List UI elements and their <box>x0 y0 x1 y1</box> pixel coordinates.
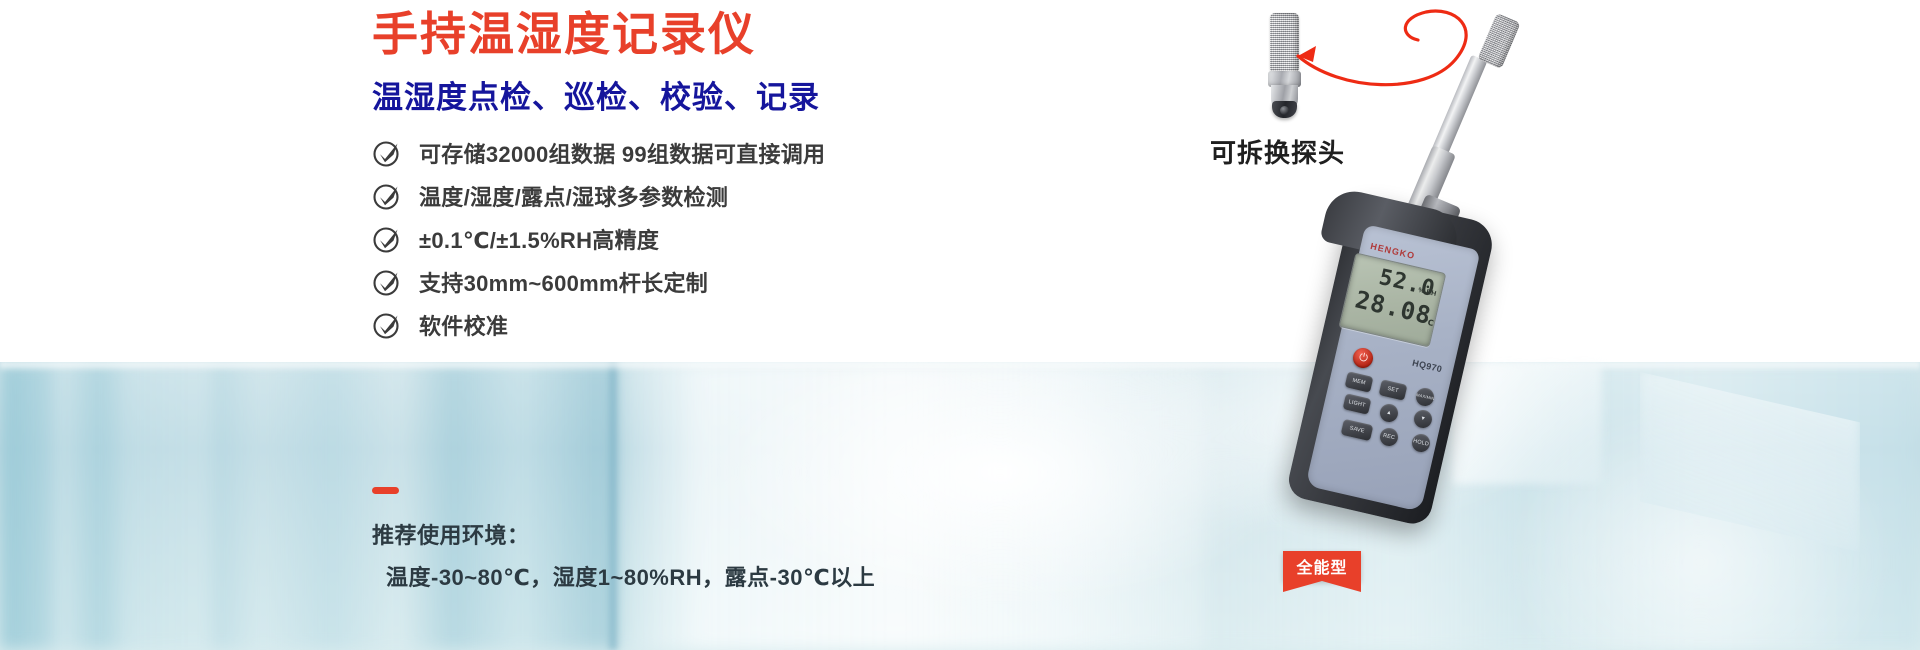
list-item: 可存储32000组数据 99组数据可直接调用 <box>372 131 1132 174</box>
key-set[interactable]: SET <box>1379 379 1408 400</box>
feature-text: 支持30mm~600mm杆长定制 <box>419 266 708 298</box>
list-item: 支持30mm~600mm杆长定制 <box>372 260 1132 303</box>
page-title: 手持温湿度记录仪 <box>372 9 756 61</box>
environment-heading: 推荐使用环境： <box>372 518 530 550</box>
list-item: ±0.1℃/±1.5%RH高精度 <box>372 217 1132 260</box>
meter-keypad: MEM SET MAX/MIN LIGHT ▲ ▼ SAVE REC HOLD <box>1340 370 1470 480</box>
page-subtitle: 温湿度点检、巡检、校验、记录 <box>372 80 820 116</box>
check-circle-icon <box>372 224 402 254</box>
list-item: 软件校准 <box>372 303 1132 346</box>
key-rec[interactable]: REC <box>1378 426 1400 448</box>
feature-list: 可存储32000组数据 99组数据可直接调用 温度/湿度/露点/湿球多参数检测 <box>372 131 1132 346</box>
status-badge-notch <box>1283 581 1361 592</box>
key-max-min[interactable]: MAX/MIN <box>1414 386 1436 408</box>
feature-text: 软件校准 <box>419 309 508 341</box>
environment-detail: 温度-30~80℃，湿度1~80%RH，露点-30℃以上 <box>386 560 875 592</box>
check-circle-icon <box>372 181 402 211</box>
feature-text: ±0.1℃/±1.5%RH高精度 <box>419 223 659 255</box>
key-mem[interactable]: MEM <box>1345 371 1374 392</box>
lcd-temperature-unit: ℃ <box>1423 317 1434 328</box>
list-item: 温度/湿度/露点/湿球多参数检测 <box>372 174 1132 217</box>
key-up[interactable]: ▲ <box>1378 402 1400 424</box>
check-circle-icon <box>372 310 402 340</box>
section-divider-dash <box>372 487 399 494</box>
key-down[interactable]: ▼ <box>1412 408 1434 430</box>
feature-text: 可存储32000组数据 99组数据可直接调用 <box>419 137 825 169</box>
key-light[interactable]: LIGHT <box>1343 393 1372 414</box>
key-hold[interactable]: HOLD <box>1410 432 1432 454</box>
check-circle-icon <box>372 138 402 168</box>
probe-callout-label: 可拆换探头 <box>1210 133 1345 170</box>
product-banner: 手持温湿度记录仪 温湿度点检、巡检、校验、记录 可存储32000组数据 99组数… <box>0 0 1920 650</box>
status-badge: 全能型 <box>1283 551 1361 581</box>
key-save[interactable]: SAVE <box>1341 419 1374 441</box>
feature-text: 温度/湿度/露点/湿球多参数检测 <box>419 180 728 212</box>
check-circle-icon <box>372 267 402 297</box>
